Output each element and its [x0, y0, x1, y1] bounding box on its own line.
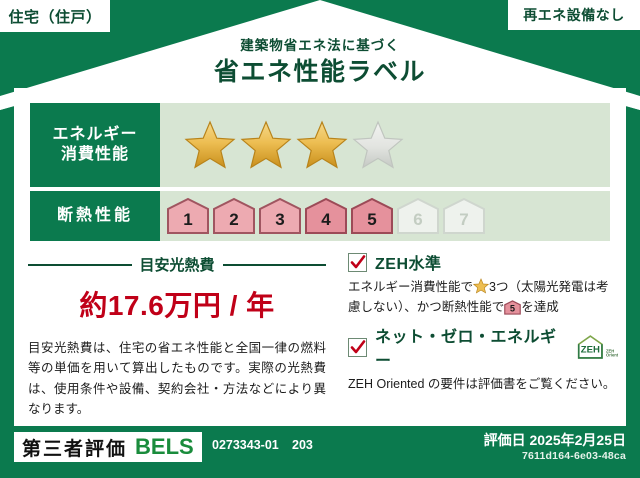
- bels-certificate-number: 0273343-01: [212, 438, 279, 452]
- claim-net-zero-energy: ネット・ゼロ・エネルギー ZEH ZEH Oriented ZEH Orient…: [348, 323, 618, 394]
- claim-text-part1: エネルギー消費性能で: [348, 280, 473, 294]
- claim-text-part3: を達成: [521, 300, 559, 314]
- claim-net-zero-title: ネット・ゼロ・エネルギー: [375, 323, 566, 371]
- star-icon: [240, 119, 292, 171]
- star-icon: [296, 119, 348, 171]
- utility-cost-panel: 目安光熱費 約17.6万円 / 年 目安光熱費は、住宅の省エネ性能と全国一律の燃…: [22, 250, 332, 418]
- check-icon[interactable]: [348, 338, 367, 357]
- insulation-grade-2: 2: [212, 197, 256, 235]
- energy-performance-row: エネルギー 消費性能: [30, 103, 610, 187]
- grade-number: 6: [413, 210, 422, 235]
- page-title: 省エネ性能ラベル: [0, 58, 640, 87]
- grade-number: 2: [229, 210, 238, 235]
- claim-zeh-level-head: ZEH水準: [348, 250, 618, 274]
- footer-bar: 第三者評価 BELS 0273343-01 203 評価日 2025年2月25日…: [0, 426, 640, 478]
- claim-zeh-level-title: ZEH水準: [375, 250, 442, 274]
- insulation-grade-3: 3: [258, 197, 302, 235]
- insulation-grade-5: 5: [350, 197, 394, 235]
- tag-renewable-equipment: 再エネ設備なし: [508, 0, 640, 30]
- grade-number: 4: [321, 210, 330, 235]
- insulation-grade-6: 6: [396, 197, 440, 235]
- svg-text:Oriented: Oriented: [606, 353, 618, 358]
- tag-building-type: 住宅（住戸）: [0, 0, 110, 32]
- utility-cost-title: 目安光熱費: [140, 254, 215, 275]
- evaluation-date: 評価日 2025年2月25日: [484, 430, 626, 450]
- claim-net-zero-head: ネット・ゼロ・エネルギー ZEH ZEH Oriented: [348, 323, 618, 371]
- utility-cost-heading: 目安光熱費: [28, 254, 326, 275]
- label-header: 建築物省エネ法に基づく 省エネ性能ラベル: [0, 38, 640, 87]
- insulation-grade-7: 7: [442, 197, 486, 235]
- energy-star-rating: [160, 103, 610, 187]
- insulation-performance-row: 断熱性能 1 2 3 4 5 6: [30, 191, 610, 241]
- insulation-grade-1: 1: [166, 197, 210, 235]
- evaluation-date-value: 2025年2月25日: [529, 432, 626, 448]
- utility-cost-value: 約17.6万円 / 年: [28, 284, 326, 324]
- bels-unit-number: 203: [292, 438, 313, 452]
- energy-performance-label: エネルギー 消費性能: [30, 103, 160, 187]
- grade-number: 7: [459, 210, 468, 235]
- star-icon: [473, 278, 489, 294]
- lower-content: 目安光熱費 約17.6万円 / 年 目安光熱費は、住宅の省エネ性能と全国一律の燃…: [22, 250, 618, 418]
- insulation-grade-scale: 1 2 3 4 5 6 7: [160, 191, 610, 241]
- rule-right: [223, 264, 327, 266]
- svg-text:5: 5: [510, 304, 515, 314]
- zeh-house-logo: ZEH ZEH Oriented: [576, 334, 618, 360]
- energy-label-line1: エネルギー: [52, 125, 137, 145]
- third-party-evaluation-label: 第三者評価: [22, 434, 127, 461]
- utility-cost-note: 目安光熱費は、住宅の省エネ性能と全国一律の燃料等の単価を用いて算出したものです。…: [28, 338, 326, 419]
- claim-net-zero-body: ZEH Oriented の要件は評価書をご覧ください。: [348, 374, 618, 394]
- evaluation-id: 7611d164-6e03-48ca: [522, 450, 626, 462]
- grade-number: 3: [275, 210, 284, 235]
- energy-label-line2: 消費性能: [61, 145, 129, 165]
- grade-number: 1: [183, 210, 192, 235]
- star-icon: [184, 119, 236, 171]
- check-icon[interactable]: [348, 253, 367, 272]
- energy-performance-label: 住宅（住戸） 再エネ設備なし 建築物省エネ法に基づく 省エネ性能ラベル エネルギ…: [0, 0, 640, 478]
- grade-number: 5: [367, 210, 376, 235]
- bels-plate: 第三者評価 BELS: [14, 432, 202, 462]
- claim-zeh-level-body: エネルギー消費性能で3つ（太陽光発電は考慮しない）、かつ断熱性能で5を達成: [348, 277, 618, 317]
- evaluation-date-label: 評価日: [484, 432, 526, 448]
- grade-5-icon: 5: [504, 300, 521, 315]
- star-icon-empty: [352, 119, 404, 171]
- claims-panel: ZEH水準 エネルギー消費性能で3つ（太陽光発電は考慮しない）、かつ断熱性能で5…: [332, 250, 618, 418]
- insulation-performance-label: 断熱性能: [30, 191, 160, 241]
- header-subtitle: 建築物省エネ法に基づく: [0, 38, 640, 54]
- rule-left: [28, 264, 132, 266]
- svg-text:ZEH: ZEH: [580, 344, 599, 355]
- claim-zeh-level: ZEH水準 エネルギー消費性能で3つ（太陽光発電は考慮しない）、かつ断熱性能で5…: [348, 250, 618, 317]
- bels-logo-text: BELS: [135, 434, 194, 460]
- insulation-grade-4: 4: [304, 197, 348, 235]
